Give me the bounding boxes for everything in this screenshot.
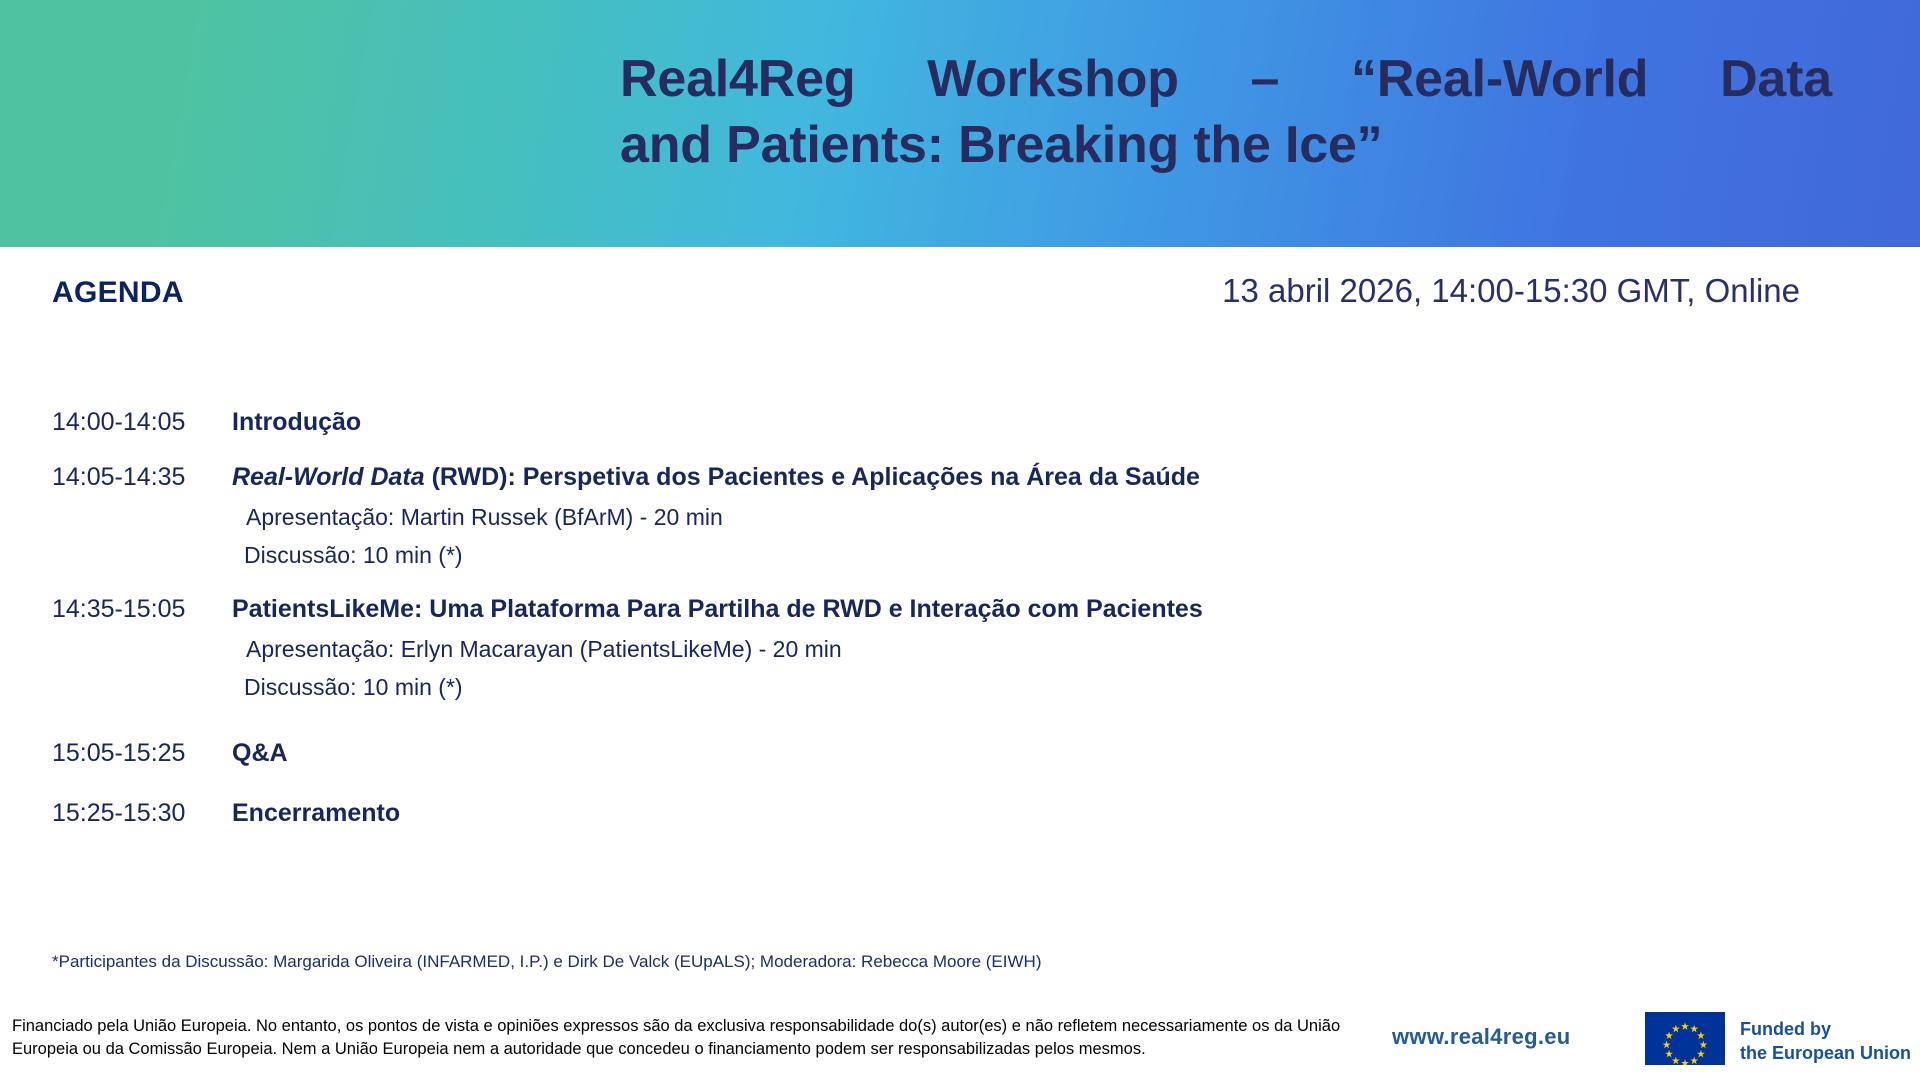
agenda-row-time: 14:05-14:35 [52, 460, 232, 494]
agenda-row: 14:35-15:05 PatientsLikeMe: Uma Platafor… [52, 592, 1552, 703]
project-website-link[interactable]: www.real4reg.eu [1392, 1024, 1571, 1050]
agenda-row-time: 14:00-14:05 [52, 405, 232, 439]
agenda-row-title: Q&A [232, 736, 1552, 770]
agenda-row-body: Q&A [232, 736, 1552, 770]
eu-funding-disclaimer: Financiado pela União Europeia. No entan… [12, 1015, 1382, 1062]
eu-funded-label: Funded by the European Union [1740, 1018, 1911, 1066]
agenda-row-discussion: Discussão: 10 min (*) [244, 539, 1552, 572]
agenda-row-title-text: PatientsLikeMe: Uma Plataforma Para Part… [232, 595, 1203, 623]
agenda-row-time: 14:35-15:05 [52, 592, 232, 626]
agenda-list: 14:00-14:05 Introdução 14:05-14:35 Real-… [52, 405, 1552, 851]
page-title-line-1: Real4Reg Workshop – “Real-World Data [620, 46, 1832, 112]
agenda-row: 15:05-15:25 Q&A [52, 736, 1552, 770]
agenda-row-title: Introdução [232, 405, 1552, 439]
agenda-row-title-text: Introdução [232, 408, 361, 436]
agenda-row: 15:25-15:30 Encerramento [52, 796, 1552, 830]
agenda-row-time: 15:05-15:25 [52, 736, 232, 770]
agenda-datetime: 13 abril 2026, 14:00-15:30 GMT, Online [1020, 272, 1800, 310]
agenda-row: 14:00-14:05 Introdução [52, 405, 1552, 439]
agenda-row-title-emphasis: Real-World Data [232, 463, 425, 491]
agenda-row-title: PatientsLikeMe: Uma Plataforma Para Part… [232, 592, 1552, 626]
agenda-row-title-text: Q&A [232, 739, 288, 767]
agenda-row-presenter: Apresentação: Erlyn Macarayan (PatientsL… [246, 633, 1552, 666]
agenda-row: 14:05-14:35 Real-World Data (RWD): Persp… [52, 460, 1552, 571]
eu-flag-icon [1645, 1012, 1725, 1065]
footer: Financiado pela União Europeia. No entan… [0, 1000, 1920, 1080]
discussion-participants-footnote: *Participantes da Discussão: Margarida O… [52, 952, 1041, 972]
eu-funded-line-2: the European Union [1740, 1042, 1911, 1066]
agenda-row-discussion: Discussão: 10 min (*) [244, 671, 1552, 704]
agenda-heading: AGENDA [52, 276, 184, 310]
agenda-row-body: Encerramento [232, 796, 1552, 830]
agenda-row-presenter: Apresentação: Martin Russek (BfArM) - 20… [246, 501, 1552, 534]
page-title: Real4Reg Workshop – “Real-World Data and… [620, 46, 1832, 178]
header-banner: Real4Reg Workshop – “Real-World Data and… [0, 0, 1920, 247]
agenda-row-body: Introdução [232, 405, 1552, 439]
agenda-row-time: 15:25-15:30 [52, 796, 232, 830]
agenda-row-title: Encerramento [232, 796, 1552, 830]
eu-funded-line-1: Funded by [1740, 1018, 1911, 1042]
agenda-row-body: PatientsLikeMe: Uma Plataforma Para Part… [232, 592, 1552, 703]
agenda-row-title-text: Encerramento [232, 799, 400, 827]
agenda-row-title: Real-World Data (RWD): Perspetiva dos Pa… [232, 460, 1552, 494]
agenda-row-body: Real-World Data (RWD): Perspetiva dos Pa… [232, 460, 1552, 571]
agenda-row-title-text: (RWD): Perspetiva dos Pacientes e Aplica… [425, 463, 1200, 491]
page-title-line-2: and Patients: Breaking the Ice” [620, 112, 1832, 178]
